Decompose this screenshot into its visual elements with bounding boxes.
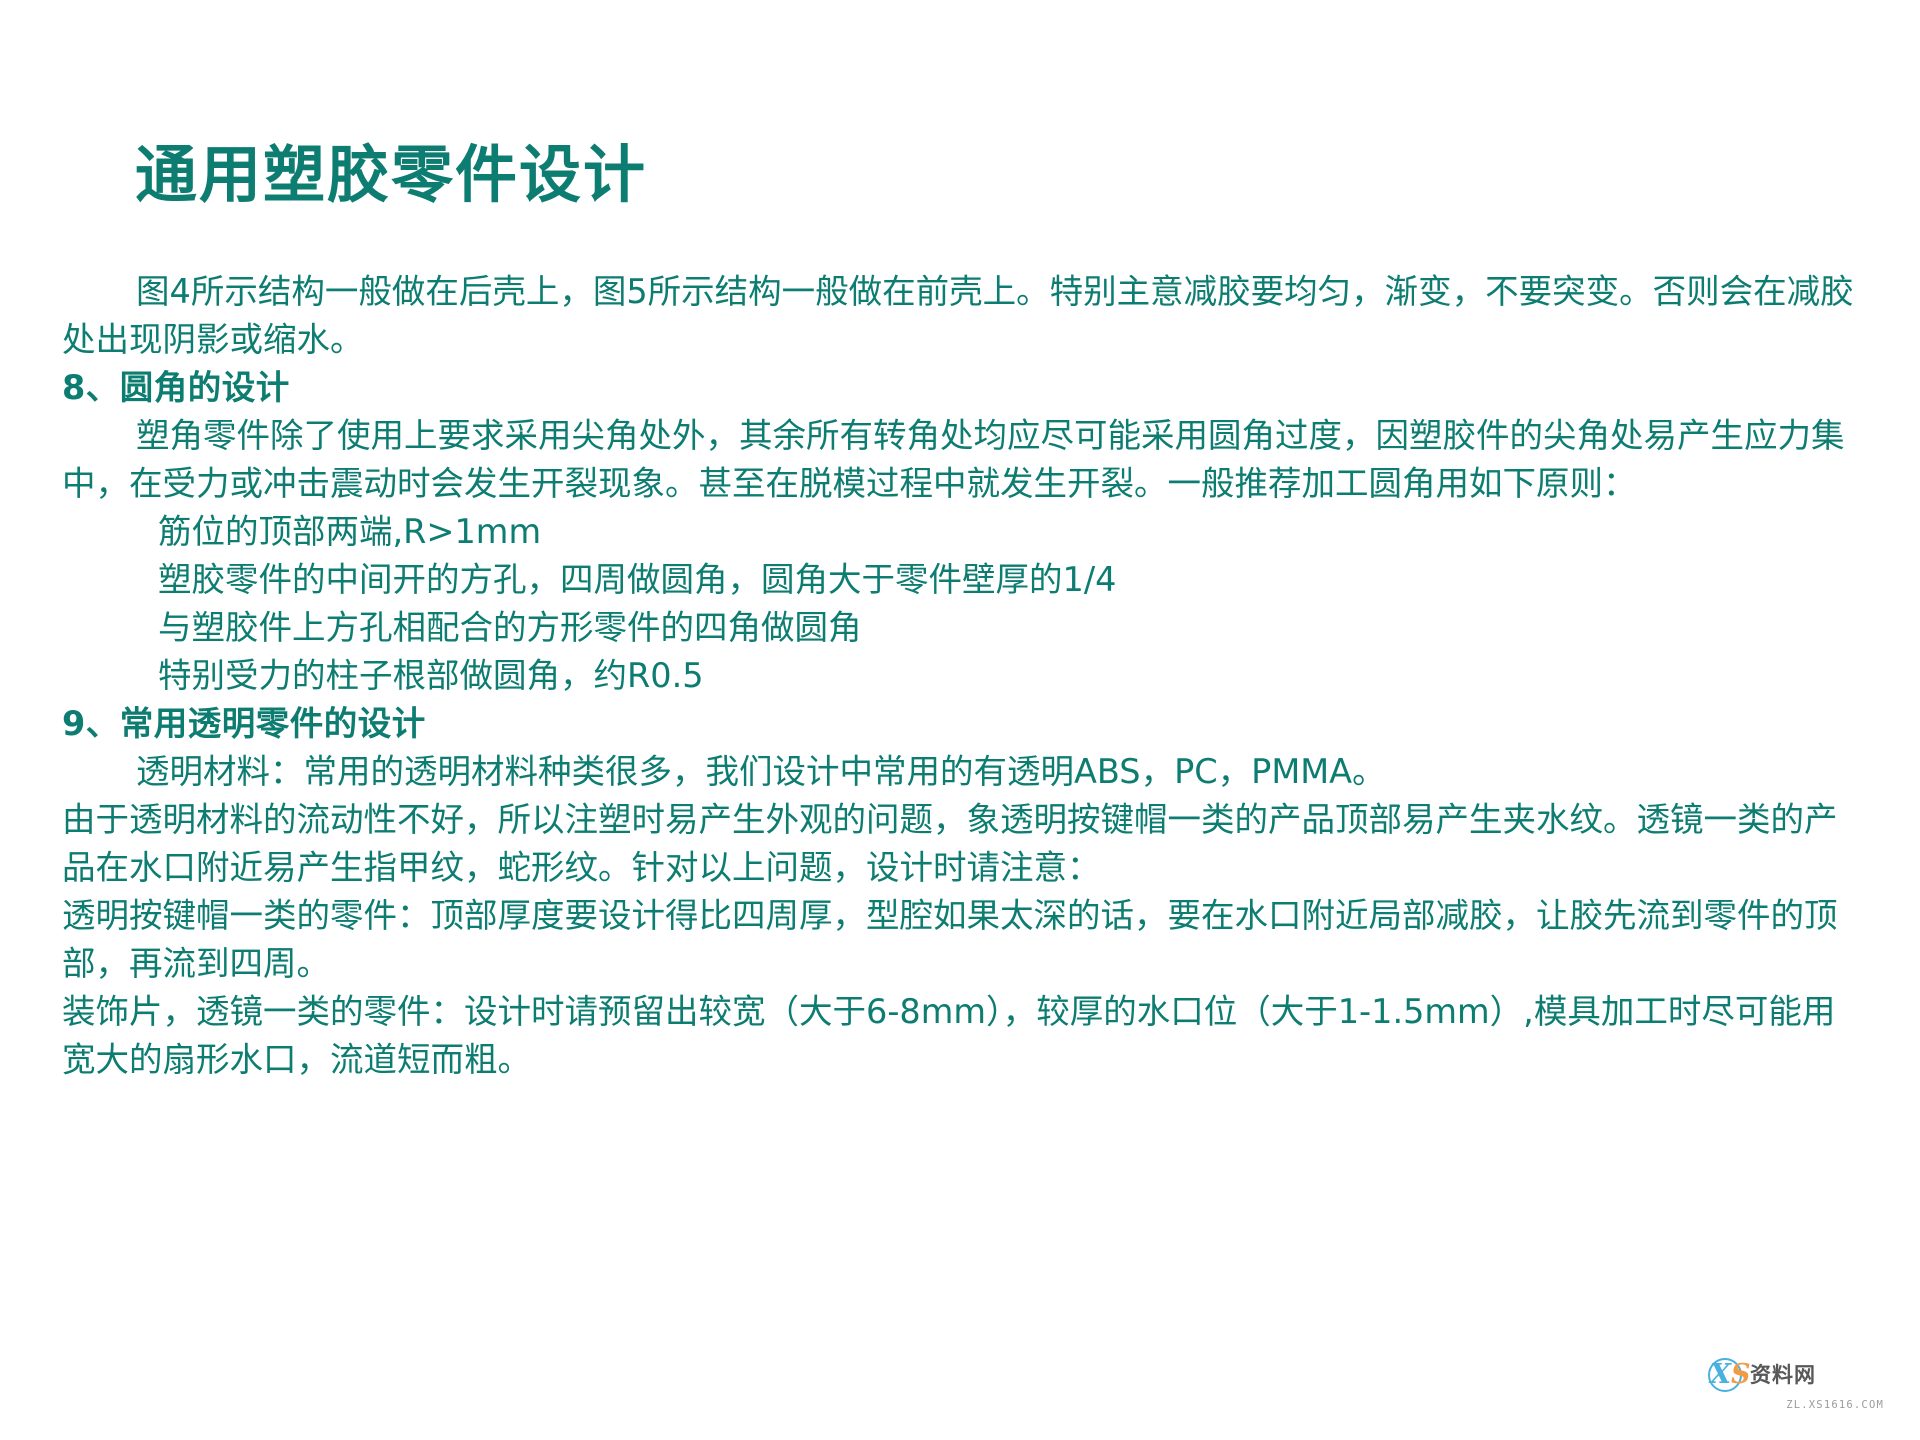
watermark-s-letter: S (1731, 1359, 1751, 1390)
watermark-x-letter: X (1710, 1359, 1731, 1390)
slide-body: 图4所示结构一般做在后壳上，图5所示结构一般做在前壳上。特别主意减胶要均匀，渐变… (62, 268, 1862, 1084)
section-9-paragraph-3: 透明按键帽一类的零件：顶部厚度要设计得比四周厚，型腔如果太深的话，要在水口附近局… (62, 892, 1862, 988)
section-9-heading: 9、常用透明零件的设计 (62, 700, 1862, 748)
watermark-label: 资料网 (1750, 1365, 1816, 1386)
intro-paragraph: 图4所示结构一般做在后壳上，图5所示结构一般做在前壳上。特别主意减胶要均匀，渐变… (62, 268, 1862, 364)
section-8-item-1: 筋位的顶部两端,R>1mm (62, 508, 1862, 556)
section-9-paragraph-1: 透明材料：常用的透明材料种类很多，我们设计中常用的有透明ABS，PC，PMMA。 (62, 748, 1862, 796)
watermark-logo: XS 资料网 ZL.XS1616.COM (1708, 1358, 1884, 1418)
section-8-item-4: 特别受力的柱子根部做圆角，约R0.5 (62, 652, 1862, 700)
section-8-heading: 8、圆角的设计 (62, 364, 1862, 412)
section-8-item-2: 塑胶零件的中间开的方孔，四周做圆角，圆角大于零件壁厚的1/4 (62, 556, 1862, 604)
slide-canvas: 通用塑胶零件设计 图4所示结构一般做在后壳上，图5所示结构一般做在前壳上。特别主… (0, 0, 1920, 1440)
section-8-paragraph: 塑角零件除了使用上要求采用尖角处外，其余所有转角处均应尽可能采用圆角过度，因塑胶… (62, 412, 1862, 508)
watermark-url: ZL.XS1616.COM (1708, 1399, 1884, 1411)
section-9-paragraph-2: 由于透明材料的流动性不好，所以注塑时易产生外观的问题，象透明按键帽一类的产品顶部… (62, 796, 1862, 892)
page-title: 通用塑胶零件设计 (135, 142, 647, 207)
section-8-item-3: 与塑胶件上方孔相配合的方形零件的四角做圆角 (62, 604, 1862, 652)
watermark-xs-icon: XS (1708, 1358, 1742, 1392)
section-9-paragraph-4: 装饰片，透镜一类的零件：设计时请预留出较宽（大于6-8mm），较厚的水口位（大于… (62, 988, 1862, 1084)
watermark-row: XS 资料网 (1708, 1358, 1884, 1392)
